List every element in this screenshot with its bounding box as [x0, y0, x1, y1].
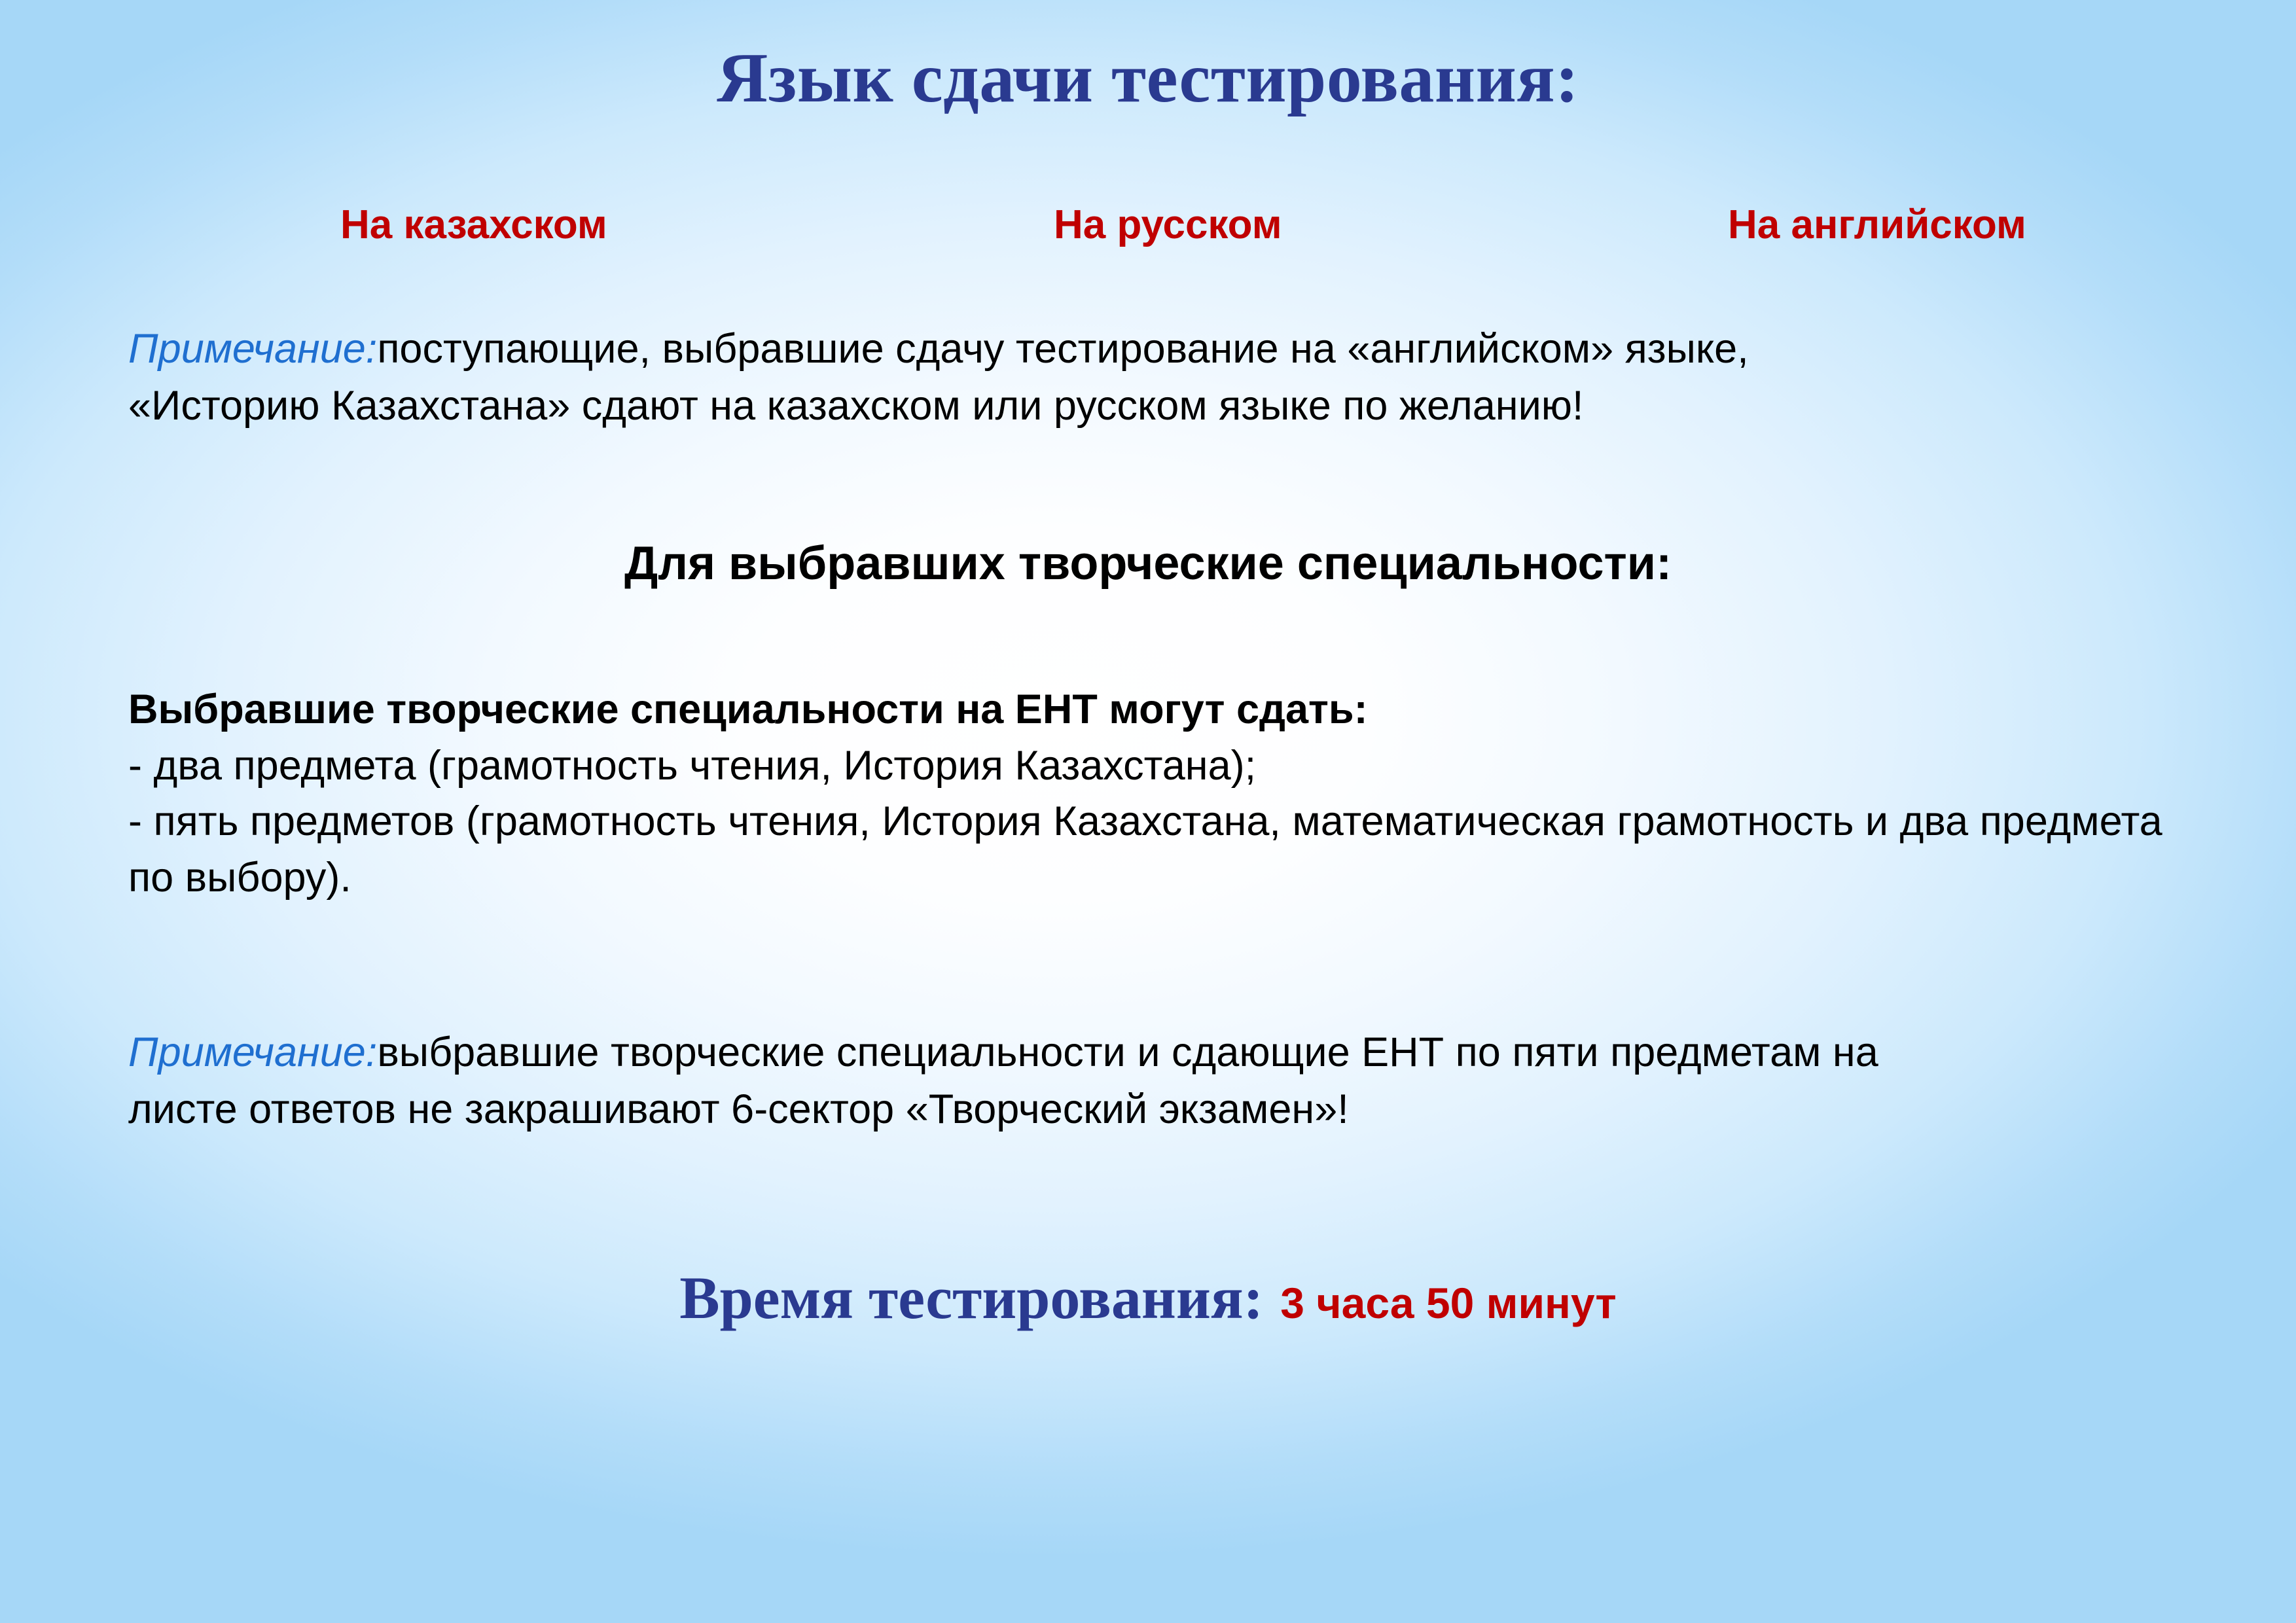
note-2-line-1: выбравшие творческие специальности и сда…: [377, 1029, 1878, 1075]
testing-time-line: Время тестирования:3 часа 50 минут: [0, 1263, 2296, 1332]
note-language-paragraph: Примечание:поступающие, выбравшие сдачу …: [128, 321, 2190, 435]
note-1-line-1: поступающие, выбравшие сдачу тестировани…: [377, 326, 1748, 372]
creative-lead-text: Выбравшие творческие специальности на ЕН…: [128, 682, 2210, 738]
note-creative-paragraph: Примечание:выбравшие творческие специаль…: [128, 1024, 2203, 1138]
language-option-kazakh: На казахском: [340, 202, 607, 248]
note-1-line-2: «Историю Казахстана» сдают на казахском …: [128, 378, 2190, 435]
language-option-russian: На русском: [1054, 202, 1282, 248]
creative-specialties-block: Выбравшие творческие специальности на ЕН…: [128, 682, 2210, 906]
page-title: Язык сдачи тестирования:: [0, 38, 2296, 119]
note-label-2: Примечание:: [128, 1029, 377, 1075]
creative-specialties-heading: Для выбравших творческие специальности:: [0, 537, 2296, 591]
note-2-line-2: листе ответов не закрашивают 6-сектор «Т…: [128, 1081, 2203, 1138]
testing-time-label: Время тестирования:: [679, 1264, 1263, 1331]
slide-canvas: Язык сдачи тестирования: На казахском На…: [0, 0, 2296, 1623]
creative-item-2: - пять предметов (грамотность чтения, Ис…: [128, 794, 2210, 906]
language-options-row: На казахском На русском На английском: [0, 202, 2296, 274]
note-label-1: Примечание:: [128, 326, 377, 372]
language-option-english: На английском: [1728, 202, 2026, 248]
creative-item-1: - два предмета (грамотность чтения, Исто…: [128, 738, 2210, 794]
testing-time-value: 3 часа 50 минут: [1280, 1279, 1616, 1327]
